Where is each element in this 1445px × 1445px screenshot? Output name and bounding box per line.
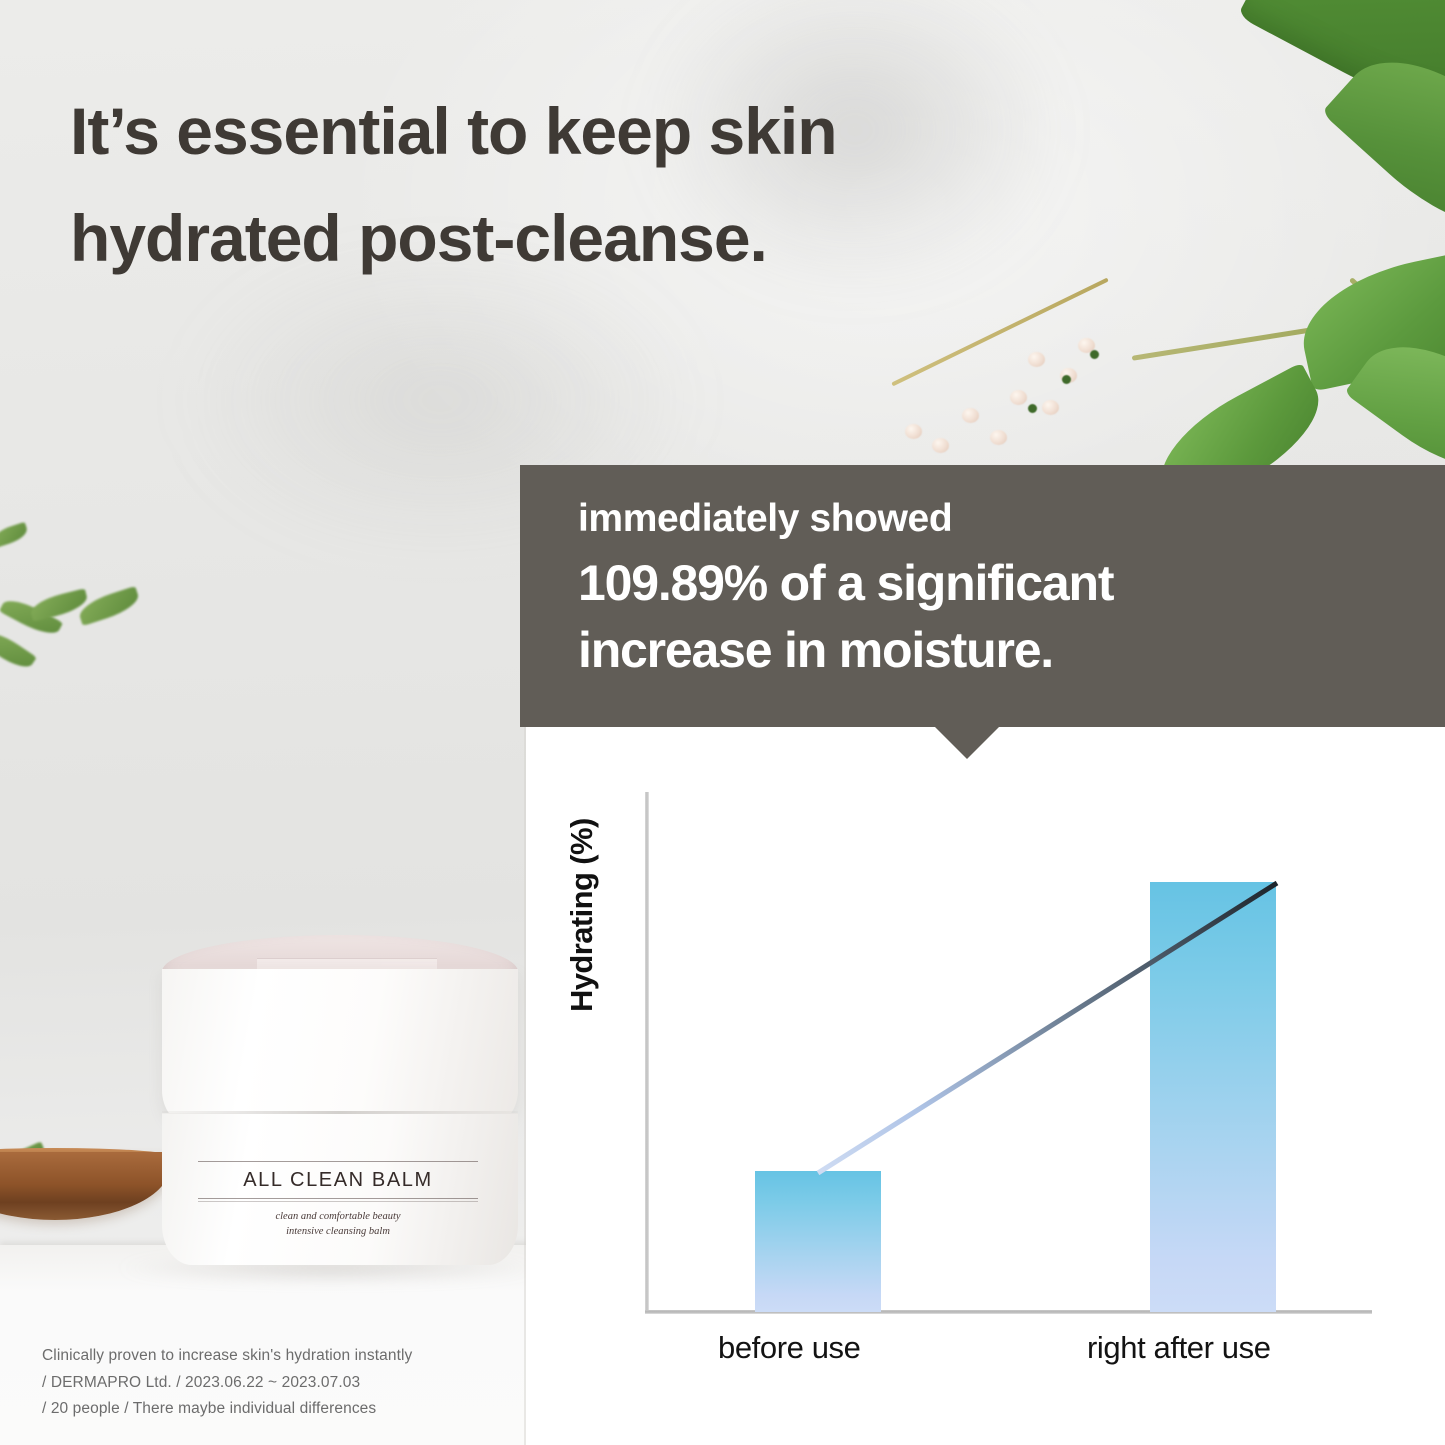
clinical-footnote: Clinically proven to increase skin's hyd… (42, 1343, 512, 1423)
product-jar: ALL CLEAN BALM ALL CLEAN BALM clean and … (140, 935, 540, 1265)
chart-y-axis (645, 792, 649, 1312)
jar-seam (162, 1111, 518, 1114)
chart-y-axis-label: Hydrating (%) (564, 818, 600, 1012)
label-rule-bottom (198, 1198, 478, 1199)
product-name: ALL CLEAN BALM (198, 1162, 478, 1198)
headline-line-2: hydrated post-cleanse. (70, 185, 1250, 292)
flower-bud-icon (1042, 400, 1059, 415)
bud-green-icon (1062, 375, 1071, 384)
footnote-line-1: Clinically proven to increase skin's hyd… (42, 1343, 512, 1370)
bud-green-icon (1090, 350, 1099, 359)
flower-bud-icon (905, 424, 922, 439)
chart-x-tick-right-after-use: right after use (1087, 1330, 1271, 1366)
callout-line-1: immediately showed (578, 495, 1445, 544)
flower-bud-icon (1028, 352, 1045, 367)
flower-bud-icon (990, 430, 1007, 445)
footnote-line-3: / 20 people / There maybe individual dif… (42, 1396, 512, 1423)
chart-x-tick-before-use: before use (718, 1330, 861, 1366)
callout-pointer-arrow (935, 727, 999, 759)
statistic-callout: immediately showed 109.89% of a signific… (520, 465, 1445, 727)
footnote-line-2: / DERMAPRO Ltd. / 2023.06.22 ~ 2023.07.0… (42, 1370, 512, 1397)
page-title: It’s essential to keep skin hydrated pos… (70, 78, 1250, 292)
chart-bar-before-use (755, 1171, 881, 1312)
poster-canvas: ALL CLEAN BALM ALL CLEAN BALM clean and … (0, 0, 1445, 1445)
chart-trend-line (526, 727, 1445, 1445)
callout-line-3: increase in moisture. (578, 617, 1445, 684)
product-tagline-line1: clean and comfortable beauty (198, 1202, 478, 1224)
bud-green-icon (1028, 404, 1037, 413)
hydration-bar-chart: Hydrating (%) before use right after use (526, 727, 1445, 1445)
callout-line-2: 109.89% of a significant (578, 550, 1445, 617)
chart-bar-right-after-use (1150, 882, 1276, 1312)
jar-front-label: ALL CLEAN BALM clean and comfortable bea… (198, 1161, 478, 1239)
flower-bud-icon (932, 438, 949, 453)
flower-bud-icon (962, 408, 979, 423)
flower-bud-icon (1010, 390, 1027, 405)
product-tagline-line2: intensive cleansing balm (198, 1224, 478, 1239)
jar-lid-side (162, 969, 518, 1124)
headline-line-1: It’s essential to keep skin (70, 78, 1250, 185)
